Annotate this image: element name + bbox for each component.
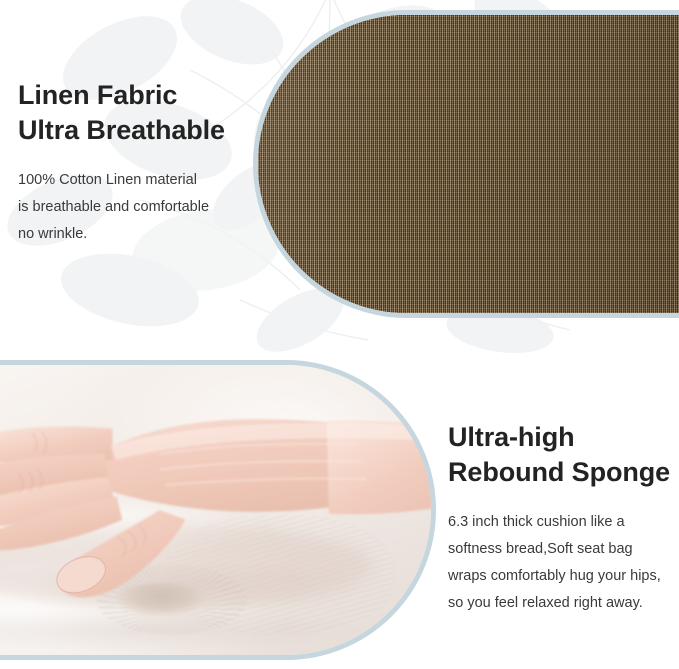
linen-sheen-overlay	[258, 15, 679, 313]
rebound-sponge-description: 6.3 inch thick cushion like a softness b…	[448, 509, 676, 616]
linen-fabric-description-line-2: is breathable and comfortable	[18, 199, 209, 215]
rebound-sponge-description-line-3: wraps comfortably hug your hips,	[448, 568, 661, 584]
rebound-sponge-text-block: Ultra-high Rebound Sponge 6.3 inch thick…	[448, 420, 676, 616]
rebound-sponge-description-line-1: 6.3 inch thick cushion like a	[448, 514, 625, 530]
infographic-canvas: Linen Fabric Ultra Breathable 100% Cotto…	[0, 0, 679, 669]
linen-fabric-description-line-3: no wrinkle.	[18, 226, 87, 242]
rebound-sponge-headline-line-2: Rebound Sponge	[448, 457, 670, 487]
linen-fabric-description-line-1: 100% Cotton Linen material	[18, 172, 197, 188]
linen-fabric-headline: Linen Fabric Ultra Breathable	[18, 78, 250, 147]
linen-fabric-headline-line-1: Linen Fabric	[18, 80, 177, 110]
linen-fabric-text-block: Linen Fabric Ultra Breathable 100% Cotto…	[18, 78, 250, 248]
hand-illustration	[0, 365, 431, 655]
rebound-sponge-description-line-4: so you feel relaxed right away.	[448, 595, 643, 611]
rebound-sponge-description-line-2: softness bread,Soft seat bag	[448, 541, 633, 557]
rebound-sponge-headline: Ultra-high Rebound Sponge	[448, 420, 676, 489]
linen-fabric-image	[253, 10, 679, 318]
linen-fabric-headline-line-2: Ultra Breathable	[18, 115, 225, 145]
rebound-sponge-image	[0, 360, 436, 660]
linen-fabric-description: 100% Cotton Linen material is breathable…	[18, 167, 250, 247]
rebound-sponge-headline-line-1: Ultra-high	[448, 422, 575, 452]
